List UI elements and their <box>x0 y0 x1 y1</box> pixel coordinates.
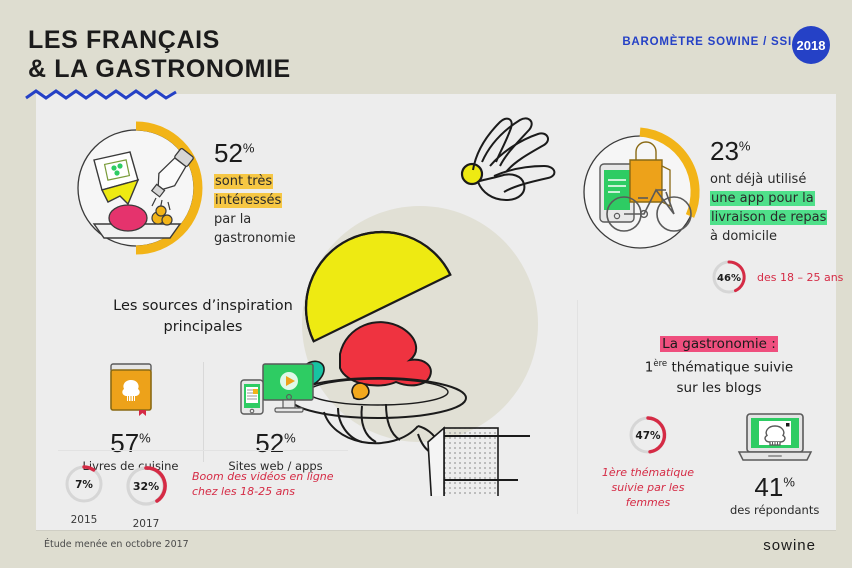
sources-bottom-divider <box>58 450 348 451</box>
donut-2015: 7% 2015 <box>62 462 106 526</box>
donut-32-percent-icon: 32% <box>122 462 170 510</box>
brand-label: BAROMÈTRE SOWINE / SSI <box>622 36 792 48</box>
video-boom-note: Boom des vidéos en ligne chez les 18-25 … <box>192 469 334 499</box>
blogs-line-2: 1ère thématique suivie <box>600 354 838 378</box>
brand-text: BAROMÈTRE SOWINE / SSI <box>622 36 792 48</box>
blogs-donut-block: 47% 1ère thématique suivie par les femme… <box>596 412 700 510</box>
donut-47-percent-icon: 47% <box>625 412 671 458</box>
delivery-line-1: ont déjà utilisé <box>710 172 806 187</box>
blogs-donut-caption-3: femmes <box>626 496 671 509</box>
blogs-donut-caption-1: 1ère thématique <box>602 466 694 479</box>
delivery-line-2: une app pour la <box>710 191 815 206</box>
sub-donut-value: 46% <box>717 273 741 284</box>
cookbook-percent: 57% <box>58 430 203 456</box>
footer-note: Étude menée en octobre 2017 <box>44 539 189 550</box>
delivery-percent: 23% <box>710 138 852 164</box>
blogs-line-3: sur les blogs <box>600 378 838 398</box>
laptop-percent: 41% <box>730 474 819 500</box>
stat-block-interest: 52% sont très intéressés par la gastrono… <box>72 118 208 262</box>
donut-2017-value: 32% <box>133 480 159 493</box>
donut-2017: 32% 2017 <box>122 462 170 530</box>
right-column-divider <box>577 300 578 514</box>
blogs-donut-caption-2: suivie par les <box>612 481 685 494</box>
donut-2015-year: 2015 <box>62 514 106 526</box>
sources-section: Les sources d’inspiration principales 57… <box>58 296 348 473</box>
interest-text: 52% sont très intéressés par la gastrono… <box>214 140 344 248</box>
sources-divider <box>203 362 204 462</box>
stat-block-delivery: 23% ont déjà utilisé une app pour la liv… <box>578 126 708 262</box>
video-boom-section: 7% 2015 32% 2017 Boom des vidéos en lign… <box>62 462 334 530</box>
blogs-donut-value: 47% <box>635 430 661 442</box>
year-badge: 2018 <box>792 26 830 64</box>
video-boom-note-line-2: chez les 18-25 ans <box>192 485 295 498</box>
web-percent: 52% <box>203 430 348 456</box>
delivery-ring-chart <box>578 126 708 258</box>
interest-line-4: gastronomie <box>214 231 296 246</box>
delivery-sub-stat: 46% des 18 – 25 ans <box>710 258 852 296</box>
interest-line-3: par la <box>214 212 251 227</box>
donut-7-percent-icon: 7% <box>62 462 106 506</box>
source-item-web: 52% Sites web / apps <box>203 360 348 473</box>
page-title: LES FRANÇAIS & LA GASTRONOMIE <box>28 26 291 84</box>
delivery-text: 23% ont déjà utilisé une app pour la liv… <box>710 138 852 296</box>
donut-2017-year: 2017 <box>122 518 170 530</box>
interest-line-1: sont très <box>214 174 273 189</box>
sub-donut-label: des 18 – 25 ans <box>757 270 843 285</box>
delivery-line-3: livraison de repas <box>710 210 827 225</box>
zigzag-underline-icon <box>24 88 194 102</box>
blogs-section: La gastronomie : 1ère thématique suivie … <box>600 334 838 398</box>
source-item-cookbook: 57% Livres de cuisine <box>58 360 203 473</box>
donut-2015-value: 7% <box>75 479 93 491</box>
footer-logo: sowine <box>763 537 816 554</box>
screens-video-icon <box>237 360 315 418</box>
panel-bottom-divider <box>36 530 836 531</box>
sources-heading: Les sources d’inspiration principales <box>58 296 348 338</box>
video-boom-note-line-1: Boom des vidéos en ligne <box>192 470 334 483</box>
blogs-line-1: La gastronomie : <box>660 336 778 352</box>
blogs-donut-caption: 1ère thématique suivie par les femmes <box>596 465 700 510</box>
delivery-line-4: à domicile <box>710 229 777 244</box>
blogs-laptop-block: 41% des répondants <box>730 412 819 517</box>
cookbook-icon <box>103 360 159 418</box>
laptop-label: des répondants <box>730 503 819 517</box>
laptop-chef-hat-icon <box>735 412 815 466</box>
sub-donut-46-icon: 46% <box>710 258 748 296</box>
interest-percent: 52% <box>214 140 344 166</box>
blogs-stats-row: 47% 1ère thématique suivie par les femme… <box>596 412 819 517</box>
interest-ring-chart <box>72 118 208 258</box>
interest-line-2: intéressés <box>214 193 282 208</box>
